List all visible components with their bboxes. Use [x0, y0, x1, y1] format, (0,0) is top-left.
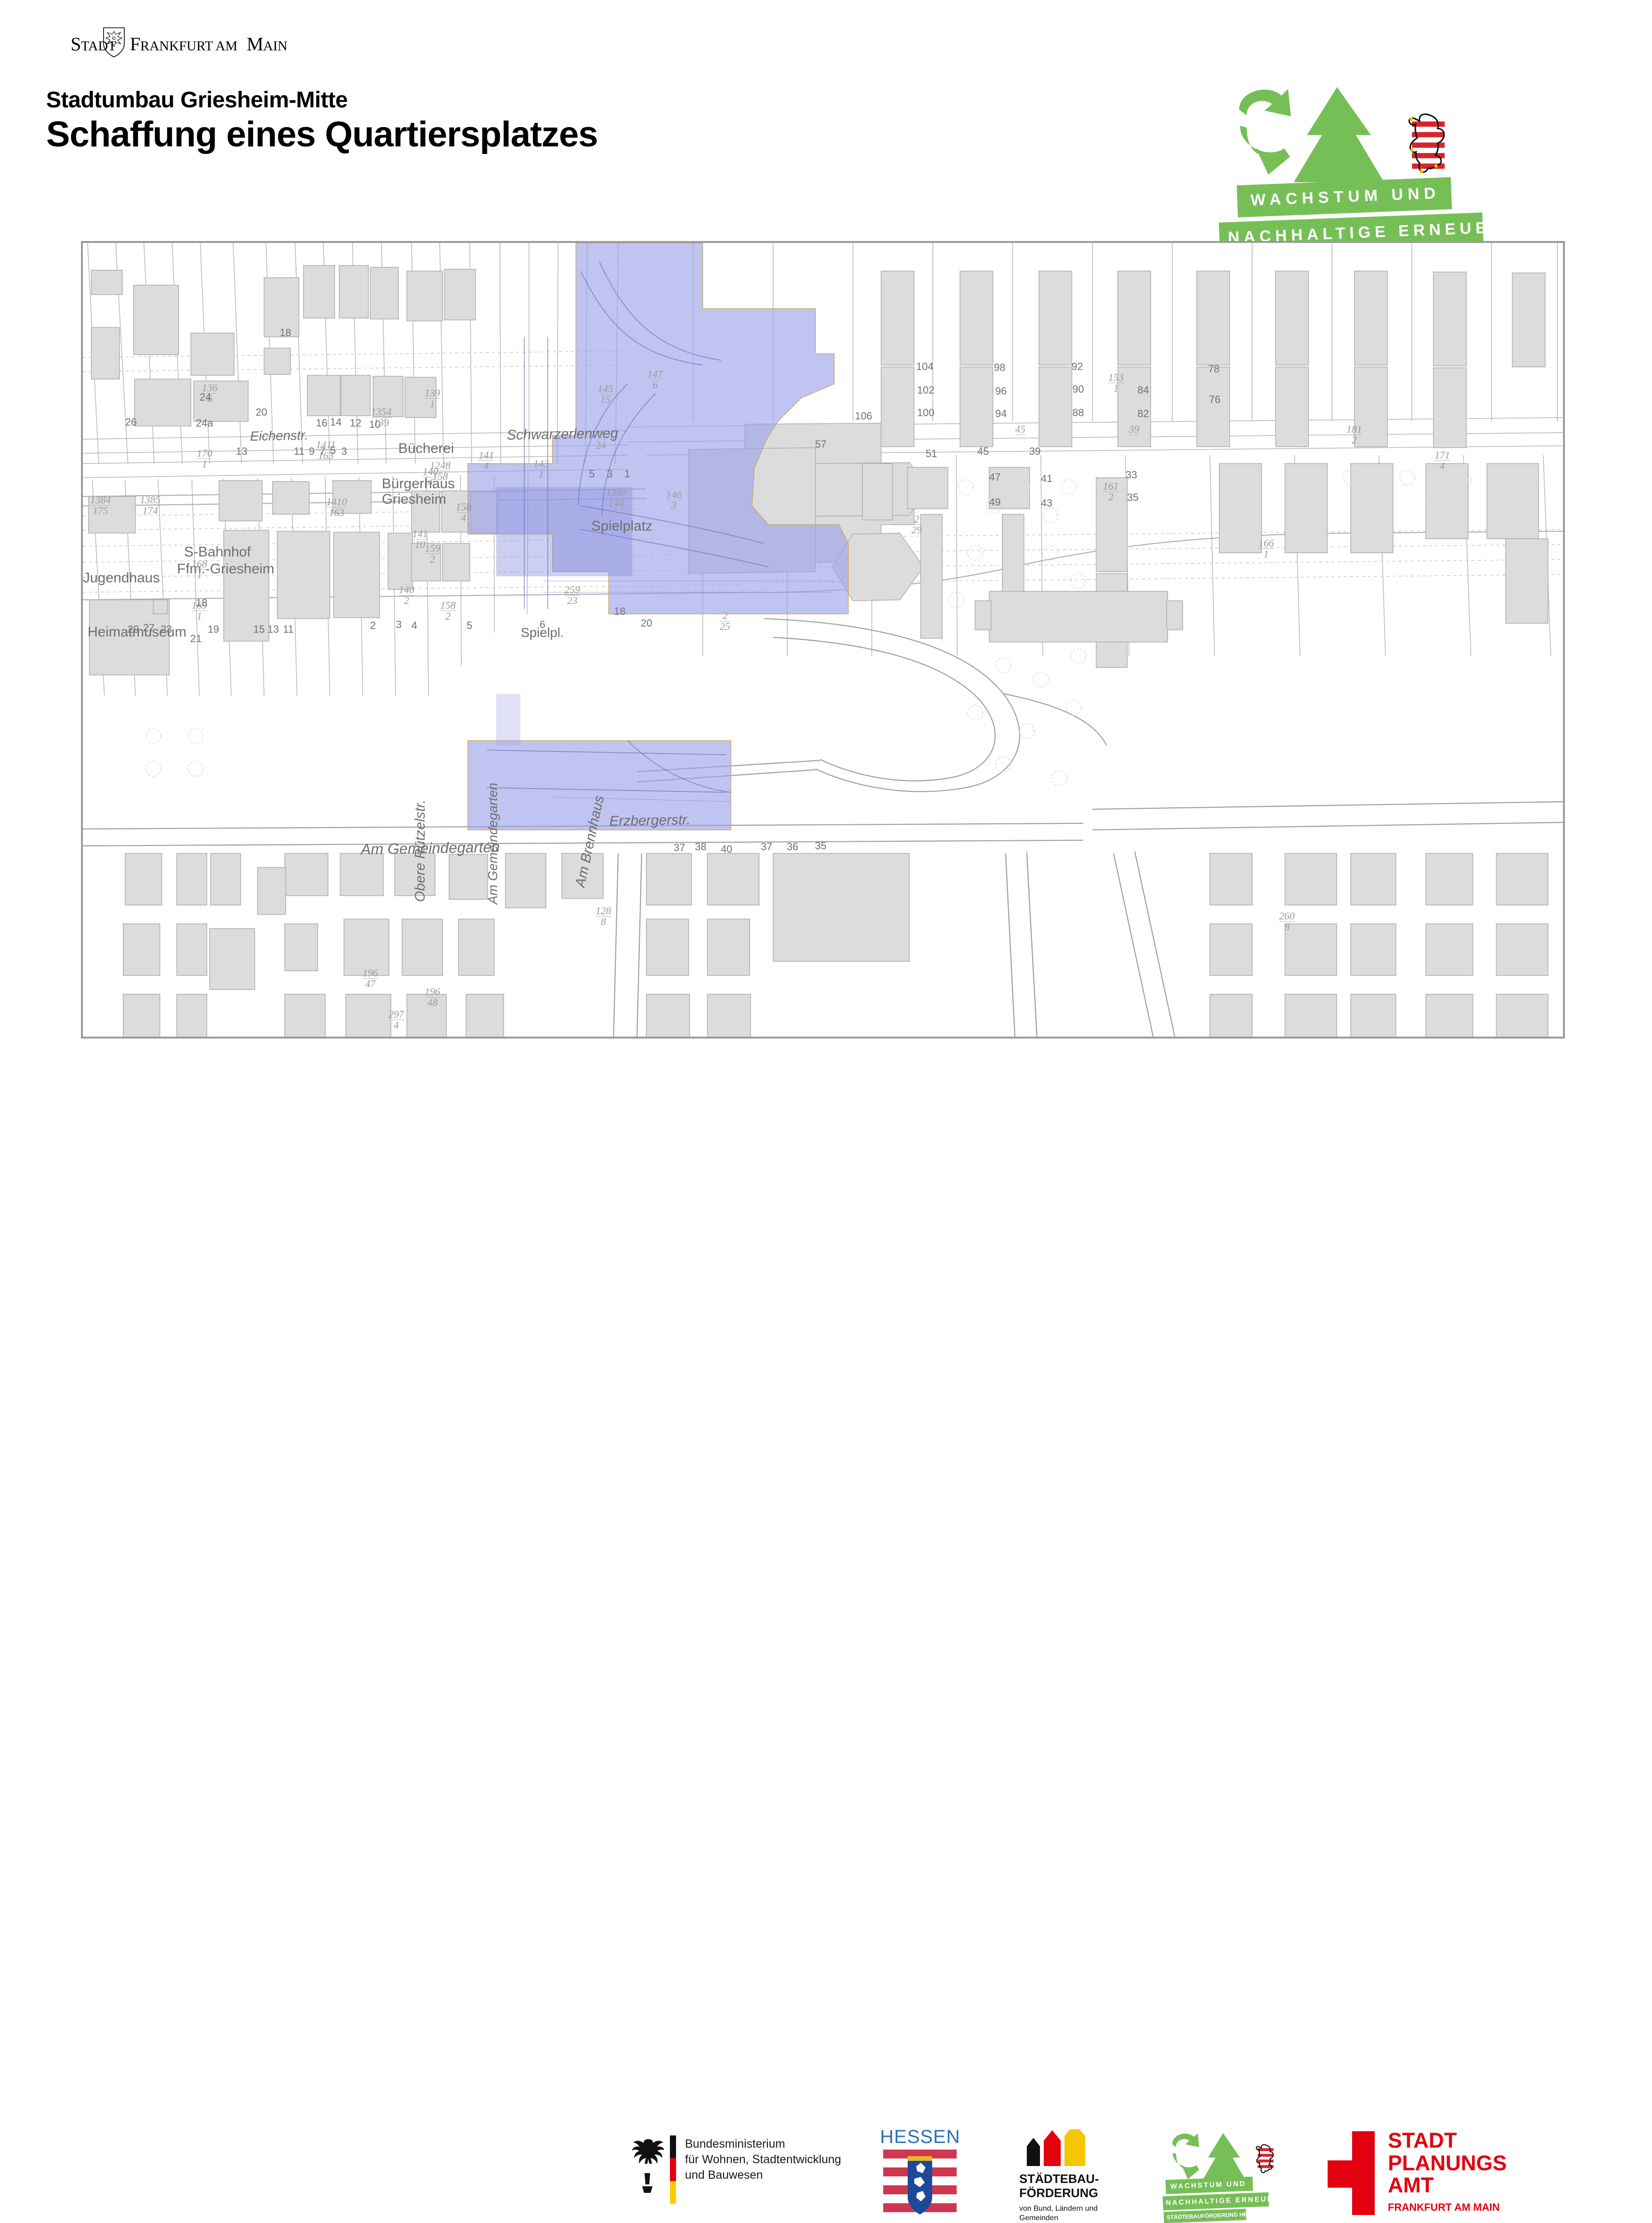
house-number: 36	[787, 841, 798, 853]
house-number: 78	[1208, 363, 1219, 375]
parcel-number: 225	[720, 611, 730, 632]
house-number: 82	[1137, 408, 1149, 420]
parcel-number: 19647	[363, 968, 378, 989]
poster-subtitle: Stadtumbau Griesheim-Mitte	[46, 87, 347, 113]
house-number: 6	[540, 619, 545, 631]
house-number: 14	[330, 416, 341, 428]
house-number: 1	[624, 468, 630, 480]
street-label: Obere Rützelstr.	[412, 800, 428, 902]
house-number: 40	[721, 843, 732, 855]
parcel-number: 1584	[456, 502, 471, 523]
parcel-number: 39	[1129, 424, 1139, 435]
house-number: 88	[1072, 407, 1084, 419]
house-number: 11	[294, 445, 305, 458]
house-number: 51	[926, 448, 937, 460]
house-number: 5	[467, 620, 472, 632]
house-number: 27	[143, 622, 154, 634]
parcel-number: 2608	[1279, 911, 1295, 932]
stadtplanungsamt-logo: STADT PLANUNGS AMT FRANKFURT AM MAIN	[1328, 2129, 1572, 2219]
hessen-logo: HESSEN	[877, 2126, 964, 2221]
house-number: 37	[761, 841, 772, 853]
hessen-lion-icon-small	[1257, 2145, 1273, 2173]
poster-title: Schaffung eines Quartiersplatzes	[46, 114, 598, 155]
staedtebau-sub1: von Bund, Ländern und	[1019, 2204, 1128, 2214]
house-number: 2	[370, 620, 376, 632]
parcel-number: 1402	[399, 585, 414, 606]
house-number: 3	[341, 445, 347, 458]
parcel-number: 1384175	[90, 495, 111, 516]
house-number: 100	[917, 407, 935, 419]
svg-text:AIN: AIN	[263, 39, 288, 54]
house-number: 20	[256, 406, 267, 419]
staedtebau-subtext: von Bund, Ländern und Gemeinden	[1019, 2204, 1128, 2223]
house-number: 5	[589, 468, 595, 480]
parcel-number: 1391	[425, 388, 440, 409]
parcel-number: 1714	[1434, 450, 1450, 471]
parcel-number: 1414	[478, 450, 494, 471]
parcel-number: 1476	[647, 369, 663, 390]
house-number: 37	[674, 842, 685, 854]
federal-eagle-icon	[631, 2133, 664, 2203]
spa-word3: AMT	[1388, 2174, 1507, 2197]
recycle-arrow-icon-small	[1172, 2133, 1199, 2179]
house-number: 19	[208, 623, 219, 636]
frankfurt-red-mark-icon	[1328, 2131, 1375, 2215]
house-number: 18	[280, 327, 291, 339]
stadtplanungsamt-text: STADT PLANUNGS AMT FRANKFURT AM MAIN	[1388, 2129, 1507, 2214]
staedtebau-sub2: Gemeinden	[1019, 2214, 1128, 2223]
house-number: 24	[200, 391, 211, 403]
house-number: 18	[196, 597, 207, 609]
house-number: 26	[125, 416, 137, 428]
parcel-number: 1592	[425, 543, 440, 564]
city-logo: S TADT F RANKFURT AM M AIN	[71, 26, 372, 59]
house-number: 90	[1072, 383, 1084, 395]
parcel-number: 1463	[666, 490, 682, 511]
three-houses-icon	[1019, 2129, 1104, 2166]
parcel-number: 1661	[1258, 538, 1274, 559]
house-number: 21	[190, 633, 201, 645]
staedtebau-text: STÄDTEBAU- FÖRDERUNG	[1019, 2172, 1128, 2200]
house-number: 13	[236, 445, 247, 458]
bmwsb-text: Bundesministerium für Wohnen, Stadtentwi…	[685, 2136, 841, 2183]
poi-label: Spielplatz	[591, 518, 653, 534]
parcel-number: 2974	[388, 1009, 404, 1031]
house-number: 3	[607, 468, 612, 480]
bmwsb-logo: Bundesministerium für Wohnen, Stadtentwi…	[631, 2133, 852, 2208]
parcel-number: 1385174	[140, 495, 161, 516]
staedtebau-line2: FÖRDERUNG	[1019, 2186, 1128, 2200]
parcel-number: 14515	[597, 384, 613, 405]
house-number: 24a	[196, 417, 213, 429]
staedtebau-line1: STÄDTEBAU-	[1019, 2172, 1128, 2186]
parcel-number: 45	[1015, 424, 1025, 435]
poi-label: Griesheim	[382, 491, 446, 507]
recycle-arrow-icon	[1239, 89, 1291, 175]
spa-word2: PLANUNGS	[1388, 2152, 1507, 2175]
bmwsb-line3: und Bauwesen	[685, 2167, 841, 2183]
parcel-number: 1531	[1108, 372, 1124, 394]
staedtebaufoerderung-logo: STÄDTEBAU- FÖRDERUNG von Bund, Ländern u…	[1019, 2129, 1128, 2219]
house-number: 57	[815, 438, 826, 451]
parcel-number: 1701	[197, 448, 212, 469]
footer-logo-bar: Bundesministerium für Wohnen, Stadtentwi…	[0, 1062, 1652, 1168]
house-number: 18	[614, 605, 625, 618]
german-flag-bar	[670, 2135, 676, 2204]
house-number: 98	[994, 362, 1005, 374]
house-number: 45	[977, 445, 989, 458]
hessen-wordmark: HESSEN	[877, 2126, 964, 2148]
hessen-shield-icon	[877, 2148, 964, 2218]
parcel-number: 1410163	[326, 497, 347, 518]
house-number: 47	[989, 471, 1000, 483]
svg-text:M: M	[247, 33, 264, 55]
parcel-number: 1303144	[606, 487, 627, 508]
svg-text:S: S	[71, 33, 81, 55]
house-number: 35	[815, 840, 826, 852]
house-number: 106	[855, 410, 872, 422]
house-number: 104	[916, 361, 934, 373]
house-number: 94	[995, 408, 1007, 420]
house-number: 5	[330, 444, 336, 457]
house-number: 29	[128, 623, 139, 636]
street-label: Am Gemeindegarten	[485, 783, 500, 904]
house-number: 20	[641, 617, 652, 629]
parcel-number: 1248158	[430, 460, 451, 482]
svg-text:TADT: TADT	[81, 39, 116, 54]
parcel-number: 1681	[192, 559, 207, 580]
house-number: 4	[411, 620, 417, 632]
house-number: 33	[1126, 469, 1137, 481]
cadastral-map[interactable]: Eichenstr.SchwarzerlenwegAm Gemeindegart…	[81, 241, 1565, 1039]
house-number: 96	[995, 385, 1007, 397]
street-label: Eichenstr.	[250, 428, 308, 444]
street-label: Erzbergerstr.	[609, 812, 691, 830]
house-number: 43	[1041, 497, 1052, 509]
parcel-number: 19648	[425, 987, 440, 1008]
house-number: 35	[1127, 491, 1138, 504]
parcel-number: 229	[911, 514, 922, 535]
parcel-number: 1812	[1346, 424, 1362, 445]
bmwsb-line1: Bundesministerium	[685, 2136, 841, 2152]
house-number: 13	[267, 623, 279, 636]
parcel-number: 1612	[1103, 481, 1119, 502]
house-number: 39	[1029, 445, 1040, 458]
parcel-number: 224	[596, 429, 606, 451]
parcel-number: 1288	[596, 906, 611, 927]
house-number: 49	[989, 496, 1000, 508]
house-number: 41	[1041, 473, 1052, 485]
house-number: 3	[396, 619, 402, 631]
hessen-lion-icon	[1409, 114, 1444, 174]
house-number: 15	[253, 623, 265, 636]
street-label: Am Gemeindegarten	[361, 838, 500, 858]
house-number: 102	[917, 384, 935, 396]
spa-word1: STADT	[1388, 2129, 1507, 2152]
house-number: 9	[309, 445, 314, 458]
parcel-number: 1582	[440, 600, 456, 621]
parcel-number: 1431	[533, 459, 549, 480]
house-number: 10	[369, 419, 380, 431]
poi-label: Jugendhaus	[83, 570, 160, 586]
parcel-number: 25923	[564, 585, 580, 606]
house-number: 92	[1072, 361, 1083, 373]
house-number: 23	[161, 623, 172, 636]
svg-text:RANKFURT AM: RANKFURT AM	[140, 39, 237, 54]
house-number: 16	[316, 417, 327, 429]
poi-label: Bücherei	[398, 441, 454, 457]
house-number: 38	[695, 841, 706, 853]
spa-sub: FRANKFURT AM MAIN	[1388, 2201, 1507, 2214]
program-logo-small: WACHSTUM UND NACHHALTIGE ERNEUERUNG STÄD…	[1163, 2130, 1299, 2220]
house-number: 84	[1137, 384, 1149, 396]
house-number: 11	[283, 623, 294, 636]
house-number: 12	[350, 417, 361, 429]
bmwsb-line2: für Wohnen, Stadtentwicklung	[685, 2152, 841, 2167]
house-number: 76	[1209, 394, 1220, 406]
svg-text:F: F	[130, 33, 140, 55]
house-number: 7	[320, 445, 325, 458]
